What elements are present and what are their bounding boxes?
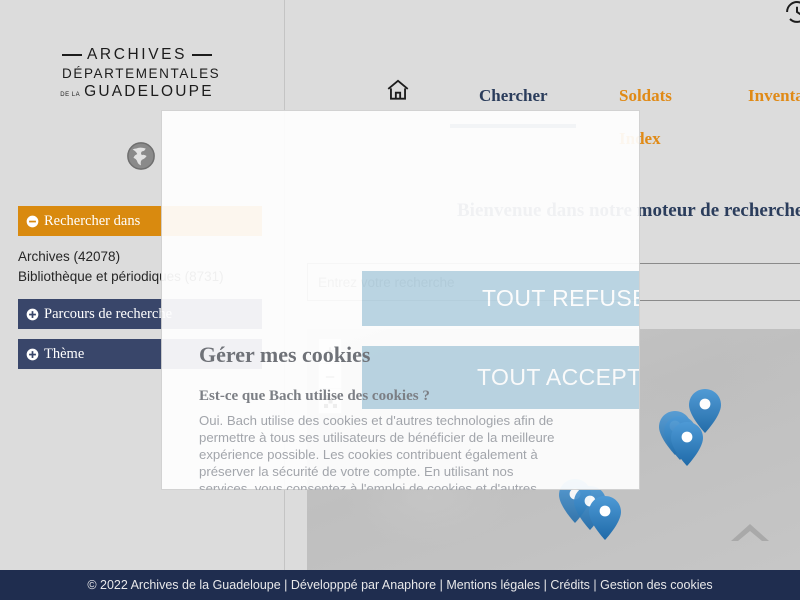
facet-option-archives[interactable]: Archives (42078) xyxy=(18,249,120,264)
minus-circle-icon xyxy=(26,215,39,228)
cookie-modal-title: Gérer mes cookies xyxy=(199,342,370,368)
sidebar-facet-label: Rechercher dans xyxy=(44,213,140,230)
globe-icon[interactable] xyxy=(126,141,156,171)
nav-item-inventaires[interactable]: Inventaires xyxy=(748,86,800,106)
history-clock-icon[interactable] xyxy=(783,0,800,26)
refuse-all-cookies-button[interactable]: TOUT REFUSER xyxy=(362,271,640,326)
nav-item-chercher[interactable]: Chercher xyxy=(479,86,548,106)
facet-option-label: Archives xyxy=(18,249,70,264)
chevron-up-icon[interactable] xyxy=(727,517,773,547)
sidebar-facet-label: Parcours de recherche xyxy=(44,306,172,323)
sidebar-facet-label: Thème xyxy=(44,346,84,363)
facet-option-count: (42078) xyxy=(74,249,121,264)
page-footer: © 2022 Archives de la Guadeloupe | Dével… xyxy=(0,570,800,600)
facet-option-label: Bibliothèque et périodiques xyxy=(18,269,181,284)
page-root: ARCHIVES DÉPARTEMENTALES DE LA GUADELOUP… xyxy=(0,0,800,600)
plus-circle-icon xyxy=(26,308,39,321)
plus-circle-icon xyxy=(26,348,39,361)
nav-item-soldats[interactable]: Soldats xyxy=(619,86,672,106)
cookie-modal-question: Est-ce que Bach utilise des cookies ? xyxy=(199,388,430,405)
footer-text[interactable]: © 2022 Archives de la Guadeloupe | Dével… xyxy=(87,578,712,592)
home-icon[interactable] xyxy=(385,77,411,103)
